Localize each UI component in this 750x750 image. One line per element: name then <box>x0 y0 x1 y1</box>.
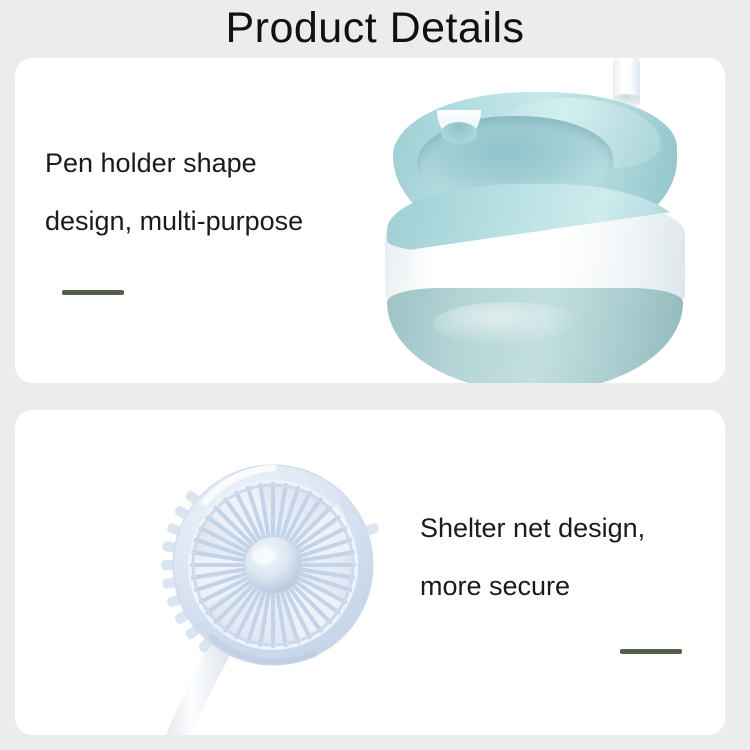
fan-grille-photo <box>15 410 435 735</box>
fan-stem <box>165 640 235 735</box>
card-1-accent-dash <box>62 290 124 295</box>
fan-hub-highlight <box>252 547 276 565</box>
page-title: Product Details <box>0 2 750 54</box>
pen-holder-bottom-highlight <box>433 302 583 346</box>
card-2-caption-line-2: more secure <box>420 557 645 615</box>
card-2-caption-line-1: Shelter net design, <box>420 499 645 557</box>
pen-holder-base-photo <box>345 58 725 383</box>
pen-holder-rim-notch-inner <box>441 122 477 144</box>
card-2-caption: Shelter net design, more secure <box>420 499 645 615</box>
fan-illustration <box>15 410 435 735</box>
detail-card-shelter-net: Shelter net design, more secure <box>15 410 725 735</box>
product-details-page: Product Details Pen holder shape design,… <box>0 0 750 750</box>
card-2-accent-dash <box>620 649 682 654</box>
fan-hub <box>245 537 301 593</box>
card-1-caption-line-1: Pen holder shape <box>45 134 303 192</box>
card-1-caption-line-2: design, multi-purpose <box>45 192 303 250</box>
pen-holder-body <box>385 92 685 364</box>
detail-card-pen-holder: Pen holder shape design, multi-purpose <box>15 58 725 383</box>
card-1-caption: Pen holder shape design, multi-purpose <box>45 134 303 250</box>
